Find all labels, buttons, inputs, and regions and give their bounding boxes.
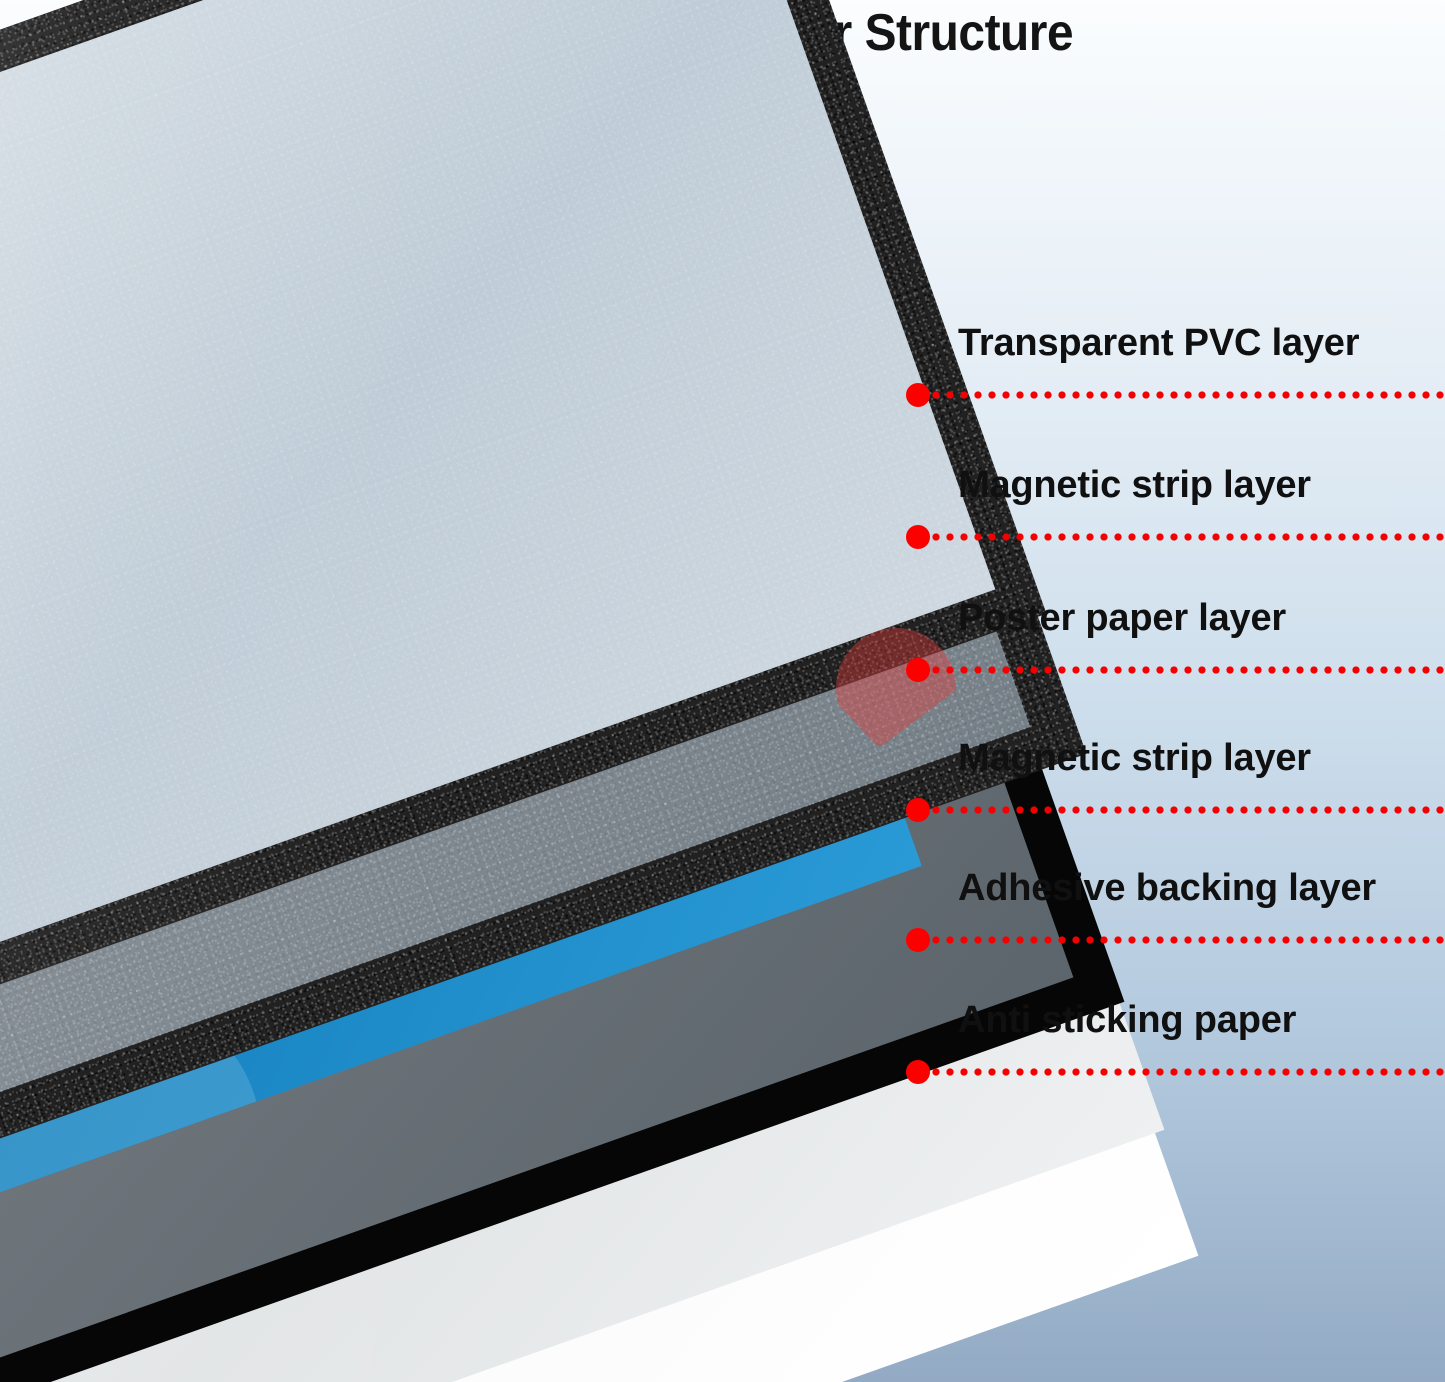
dotted-leader-line — [932, 936, 1444, 944]
callout-label: Anti sticking paper — [958, 999, 1296, 1042]
dotted-leader-line — [932, 1068, 1444, 1076]
dotted-leader-line — [932, 666, 1444, 674]
red-dot-marker-icon — [906, 525, 930, 549]
callout-label: Poster paper layer — [958, 597, 1286, 640]
red-dot-marker-icon — [906, 1060, 930, 1084]
red-dot-marker-icon — [906, 928, 930, 952]
dotted-leader-line — [932, 806, 1444, 814]
callout-group: Transparent PVC layer Magnetic strip lay… — [0, 0, 1445, 1382]
callout-label: Magnetic strip layer — [958, 464, 1311, 507]
callout-label: Magnetic strip layer — [958, 737, 1311, 780]
callout-label: Transparent PVC layer — [958, 322, 1359, 365]
red-dot-marker-icon — [906, 383, 930, 407]
dotted-leader-line — [932, 391, 1444, 399]
red-dot-marker-icon — [906, 658, 930, 682]
callout-label: Adhesive backing layer — [958, 867, 1376, 910]
dotted-leader-line — [932, 533, 1444, 541]
red-dot-marker-icon — [906, 798, 930, 822]
